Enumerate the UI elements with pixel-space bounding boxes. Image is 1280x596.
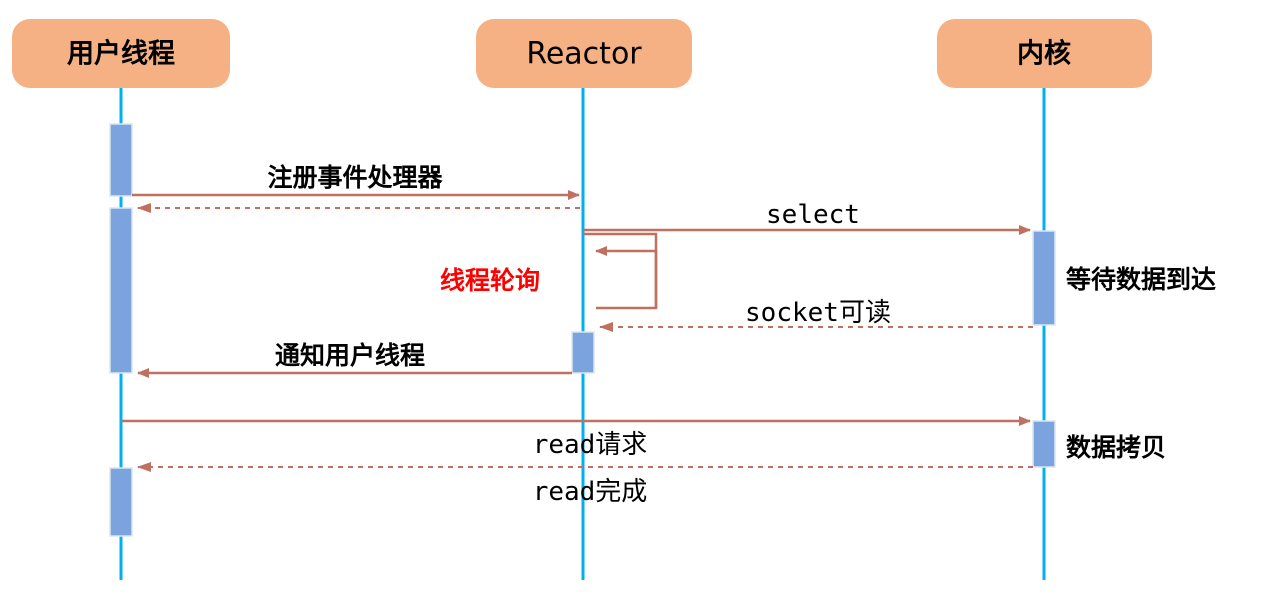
- note-waiting-for-data: 等待数据到达: [1066, 265, 1216, 294]
- message-label-m5: socket可读: [745, 298, 891, 328]
- message-register-event-handler[interactable]: 注册事件处理器: [132, 163, 579, 195]
- activation-bar-user-1: [110, 124, 132, 196]
- message-label-m8: read完成: [533, 477, 648, 507]
- note-data-copy: 数据拷贝: [1066, 433, 1166, 462]
- message-read-request[interactable]: read请求: [121, 421, 1030, 460]
- participant-label-reactor: Reactor: [526, 37, 642, 72]
- message-line-m4: [583, 234, 656, 308]
- message-line-m4-return: [596, 251, 656, 308]
- activation-bar-kernel-2: [1033, 421, 1055, 467]
- message-notify-user-thread[interactable]: 通知用户线程: [138, 341, 572, 373]
- message-read-complete[interactable]: read完成: [138, 467, 1033, 507]
- message-label-m1: 注册事件处理器: [267, 163, 443, 192]
- message-select[interactable]: select: [583, 200, 1030, 230]
- message-label-m7: read请求: [533, 430, 648, 460]
- activation-bar-user-2: [110, 208, 132, 373]
- participant-label-user: 用户线程: [67, 38, 175, 70]
- activation-bar-kernel-1: [1033, 231, 1055, 325]
- notes-group: 等待数据到达 数据拷贝: [1066, 265, 1216, 462]
- activation-bar-reactor-1: [572, 332, 594, 373]
- message-label-m3: select: [766, 200, 860, 230]
- activation-bar-user-3: [110, 468, 132, 536]
- participant-label-kernel: 内核: [1017, 38, 1071, 70]
- sequence-diagram: 用户线程 Reactor 内核 注册事件处理器: [0, 0, 1280, 596]
- note-label-polling: 线程轮询: [440, 266, 540, 295]
- participant-kernel[interactable]: 内核: [937, 19, 1152, 88]
- participant-user[interactable]: 用户线程: [12, 19, 230, 88]
- message-self-loop-polling[interactable]: 线程轮询: [440, 234, 656, 308]
- message-socket-readable[interactable]: socket可读: [600, 298, 1033, 328]
- message-label-m6: 通知用户线程: [275, 341, 425, 370]
- participant-reactor[interactable]: Reactor: [476, 19, 692, 88]
